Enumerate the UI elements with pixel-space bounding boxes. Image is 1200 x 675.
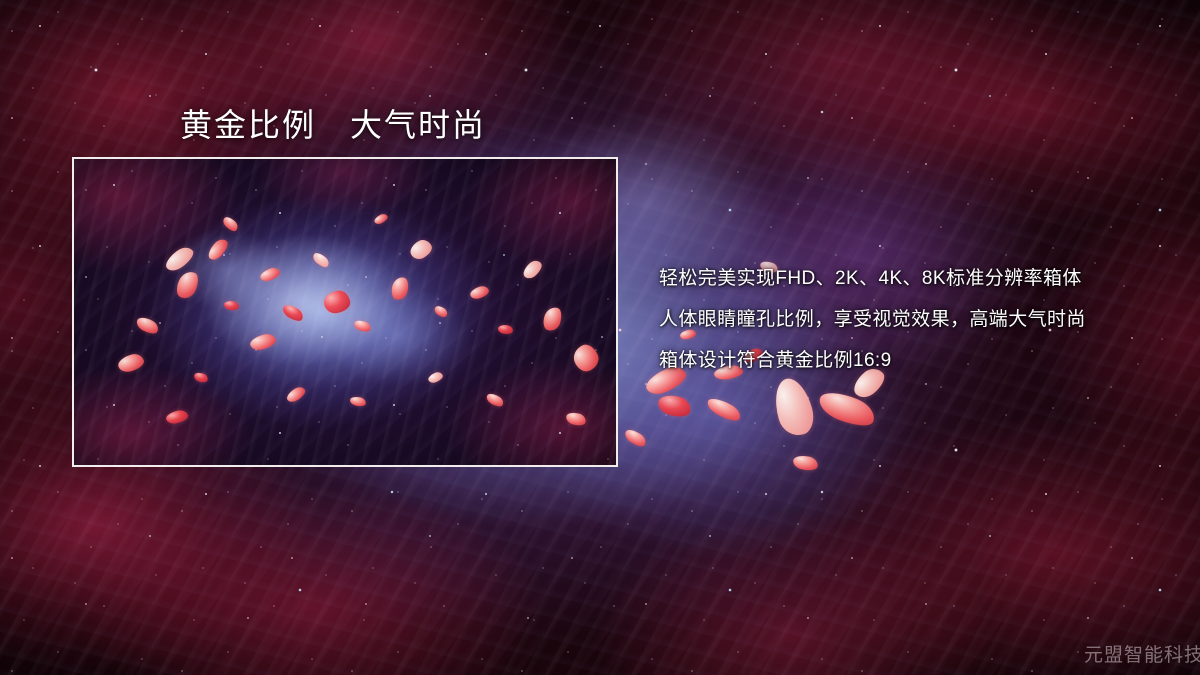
body-text-block: 轻松完美实现FHD、2K、4K、8K标准分辨率箱体 人体眼睛瞳孔比例，享受视觉效… bbox=[659, 258, 1179, 381]
inset-blue-nebula bbox=[74, 159, 616, 465]
inset-crimson-nebula bbox=[74, 159, 616, 465]
body-text-line-1: 轻松完美实现FHD、2K、4K、8K标准分辨率箱体 bbox=[659, 258, 1179, 299]
inset-base-gradient bbox=[74, 159, 616, 465]
inset-starfield-small bbox=[74, 159, 616, 465]
framed-image-panel[interactable] bbox=[72, 157, 618, 467]
body-text-line-3: 箱体设计符合黄金比例16:9 bbox=[659, 340, 1179, 381]
inset-wisp-texture bbox=[74, 159, 616, 465]
watermark-text: 元盟智能科技 bbox=[1084, 640, 1200, 667]
inset-starfield-medium bbox=[74, 159, 616, 465]
body-text-line-2: 人体眼睛瞳孔比例，享受视觉效果，高端大气时尚 bbox=[659, 299, 1179, 340]
page-title: 黄金比例 大气时尚 bbox=[180, 100, 486, 146]
presentation-slide: 黄金比例 大气时尚 轻松完美实现FHD、2K、4K、8K标准分辨率箱体 人体眼睛… bbox=[0, 0, 1200, 675]
